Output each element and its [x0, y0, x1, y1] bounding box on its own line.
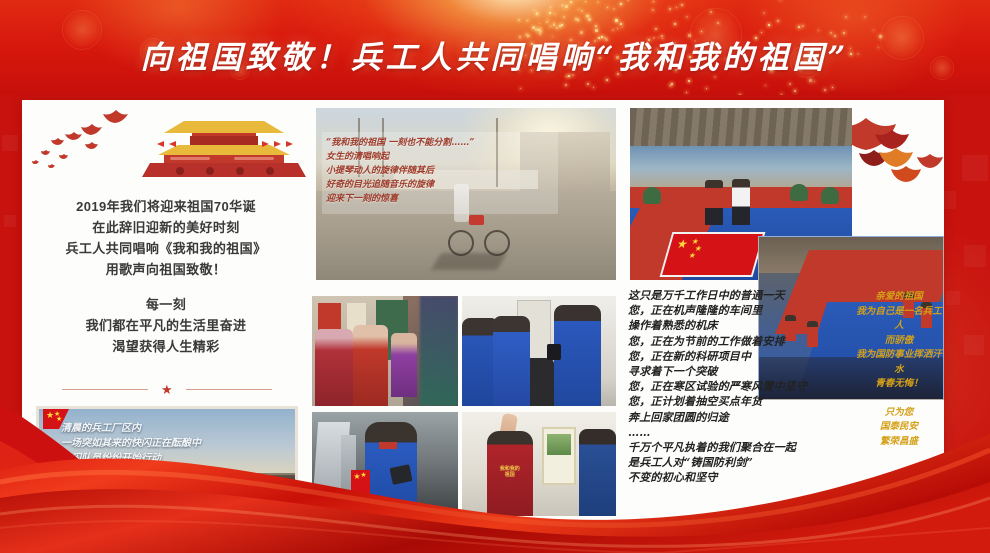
slogan-part-1: 亲爱的祖国 我为自己是一名兵工人 而骄傲 我为国防事业挥洒汗水 青春无悔！: [854, 290, 944, 392]
photo-bike-wheel: [448, 230, 474, 256]
tiananmen-gate-icon: [134, 105, 314, 187]
bg-block: [2, 135, 18, 151]
photo-plant: [643, 187, 661, 204]
street-cyclist-photo: “我和我的祖国 一刻也不能分割……” 女生的清唱响起 小提琴动人的旋律伴随其后 …: [316, 108, 616, 280]
text-gap: [30, 280, 302, 294]
flag-star: ★: [687, 252, 696, 260]
bg-block: [962, 155, 988, 181]
photo-person: [705, 180, 723, 225]
red-silk-ribbon: [0, 378, 990, 553]
left-paragraph-2: 每一刻 我们都在平凡的生活里奋进 渴望获得人生精彩: [30, 294, 302, 357]
page-title: 向祖国致敬！兵工人共同唱响“我和我的祖国”: [0, 32, 990, 77]
photo-plant: [790, 184, 808, 201]
chinese-flag-icon: ★ ★ ★ ★: [659, 232, 765, 277]
photo-plant: [821, 187, 839, 204]
bg-block: [4, 215, 16, 227]
flying-doves-icon: [30, 106, 142, 178]
photo-device: [547, 344, 561, 359]
poster-root: 向祖国致敬！兵工人共同唱响“我和我的祖国”: [0, 0, 990, 553]
flag-star: ★: [675, 240, 688, 248]
street-photo-caption: “我和我的祖国 一刻也不能分割……” 女生的清唱响起 小提琴动人的旋律伴随其后 …: [326, 136, 558, 206]
banner-header: 向祖国致敬！兵工人共同唱响“我和我的祖国”: [0, 0, 990, 95]
photo-bike-basket: [469, 215, 484, 225]
left-paragraph-1: 2019年我们将迎来祖国70华诞 在此辞旧迎新的美好时刻 兵工人共同唱响《我和我…: [30, 196, 302, 280]
bg-block: [946, 291, 960, 305]
left-intro-text: 2019年我们将迎来祖国70华诞 在此辞旧迎新的美好时刻 兵工人共同唱响《我和我…: [30, 196, 302, 357]
photo-person: [732, 179, 750, 225]
bg-block: [964, 245, 986, 267]
bg-block: [964, 335, 984, 355]
photo-bike-wheel: [484, 230, 510, 256]
